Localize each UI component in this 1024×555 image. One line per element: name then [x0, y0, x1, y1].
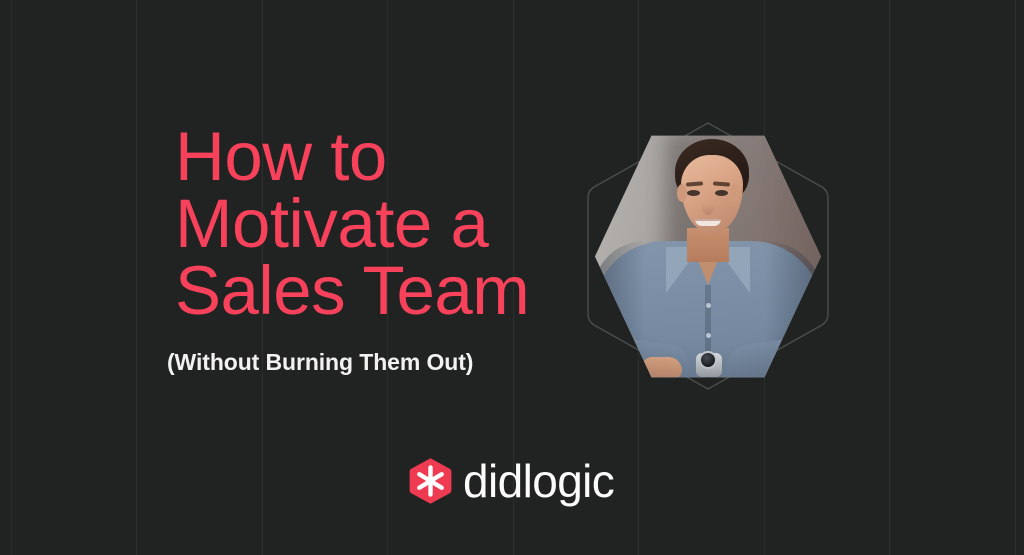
brand-name: didlogic: [463, 458, 614, 504]
grid-line: [136, 0, 137, 555]
grid-line: [11, 0, 12, 555]
page-subtitle: (Without Burning Them Out): [167, 349, 473, 376]
portrait-hexagon: [586, 121, 830, 391]
page-title: How to Motivate a Sales Team: [175, 123, 605, 324]
hexagon-asterisk-icon: [408, 457, 453, 505]
grid-line: [889, 0, 890, 555]
title-line-2: Motivate a: [175, 190, 605, 257]
brand-logo[interactable]: didlogic: [408, 457, 614, 505]
title-line-1: How to: [175, 123, 605, 190]
cover-canvas: How to Motivate a Sales Team (Without Bu…: [0, 0, 1024, 555]
grid-line: [1015, 0, 1016, 555]
title-line-3: Sales Team: [175, 257, 605, 324]
